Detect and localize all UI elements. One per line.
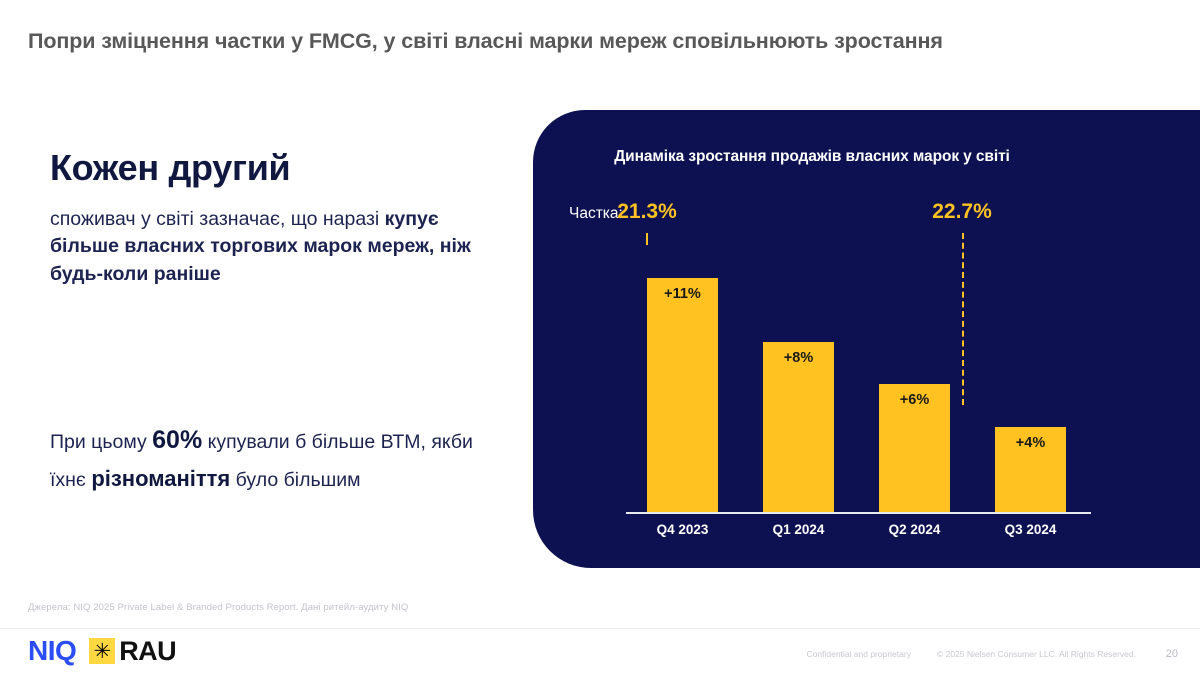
secondary-paragraph: При цьому 60% купували б більше ВТМ, якб…	[50, 420, 480, 496]
copyright-note: © 2025 Nielsen Consumer LLC. All Rights …	[937, 649, 1136, 659]
x-axis-label-q4-2023: Q4 2023	[633, 522, 732, 537]
footer-divider	[0, 628, 1200, 629]
left-content-column: Кожен другий споживач у світі зазначає, …	[50, 148, 480, 289]
rau-star-icon: ✳	[89, 638, 115, 664]
footer-meta: Confidential and proprietary © 2025 Niel…	[807, 648, 1178, 660]
confidential-note: Confidential and proprietary	[807, 649, 911, 659]
secondary-paragraph-post: було більшим	[230, 469, 360, 491]
slide-root: Попри зміцнення частки у FMCG, у світі в…	[0, 0, 1200, 675]
rau-logo-text: RAU	[119, 638, 176, 665]
bar-value-label: +11%	[647, 286, 718, 302]
variety-keyword: різноманіття	[91, 466, 230, 491]
logo-bar: NIQ ✳ RAU	[28, 637, 176, 665]
sixty-percent-stat: 60%	[152, 426, 202, 454]
bar-q3-2024: +4%	[995, 427, 1066, 512]
bar-value-label: +8%	[763, 350, 834, 366]
headline: Кожен другий	[50, 148, 480, 188]
niq-logo: NIQ	[28, 637, 76, 665]
bar-value-label: +6%	[879, 392, 950, 408]
lead-paragraph: споживач у світі зазначає, що наразі куп…	[50, 206, 480, 289]
bar-q4-2023: +11%	[647, 278, 718, 512]
lead-paragraph-regular: споживач у світі зазначає, що наразі	[50, 208, 385, 230]
bar-q2-2024: +6%	[879, 384, 950, 512]
source-note: Джерела: NIQ 2025 Private Label & Brande…	[28, 602, 408, 613]
secondary-paragraph-pre: При цьому	[50, 431, 152, 453]
plot-area: +11%Q4 2023+8%Q1 2024+6%Q2 2024+4%Q3 202…	[533, 110, 1091, 568]
x-axis-label-q2-2024: Q2 2024	[865, 522, 964, 537]
bar-value-label: +4%	[995, 435, 1066, 451]
x-axis-label-q1-2024: Q1 2024	[749, 522, 848, 537]
x-axis-label-q3-2024: Q3 2024	[981, 522, 1080, 537]
page-number: 20	[1162, 648, 1178, 660]
rau-logo: ✳ RAU	[89, 638, 176, 665]
x-axis-line	[626, 512, 1091, 514]
page-title: Попри зміцнення частки у FMCG, у світі в…	[28, 28, 1168, 55]
chart-panel: Динаміка зростання продажів власних маро…	[533, 110, 1200, 568]
bar-q1-2024: +8%	[763, 342, 834, 512]
